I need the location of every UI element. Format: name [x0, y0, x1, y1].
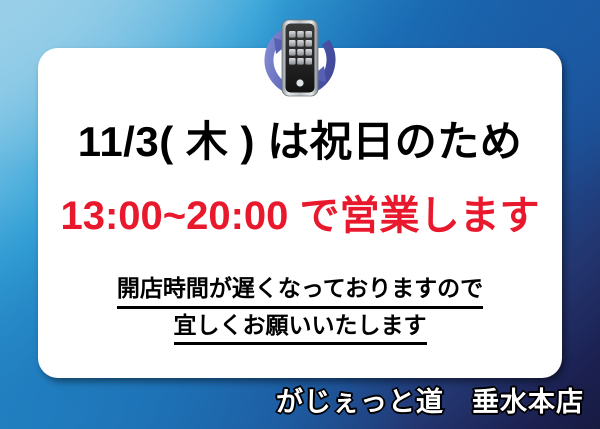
logo-svg [252, 8, 348, 108]
headline-date: 11/3( 木 ) は祝日のため [38, 121, 562, 163]
phone-icon [282, 20, 318, 96]
apology-line-1: 開店時間が遅くなっておりますので [38, 272, 562, 309]
shop-name: がじぇっと道 垂水本店 [276, 380, 584, 419]
notice-poster: 11/3( 木 ) は祝日のため 13:00~20:00 で営業します 開店時間… [0, 0, 600, 429]
apology-message: 開店時間が遅くなっておりますので 宜しくお願いいたします [38, 272, 562, 345]
business-hours: 13:00~20:00 で営業します [38, 196, 562, 236]
smartphone-repair-logo [252, 8, 348, 108]
apology-line-2: 宜しくお願いいたします [38, 309, 562, 346]
